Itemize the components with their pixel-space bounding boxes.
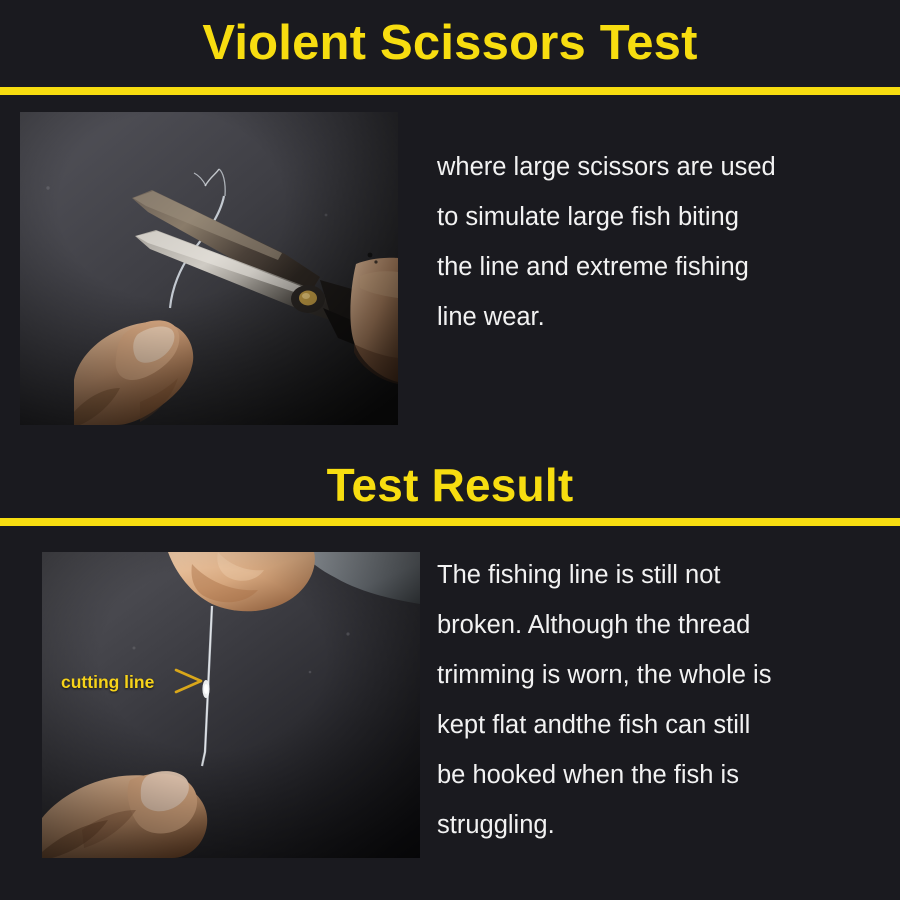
test-result-title: Test Result xyxy=(0,458,900,512)
description-line: line wear. xyxy=(437,292,887,342)
description-line: the line and extreme fishing xyxy=(437,242,887,292)
divider-under-result-title xyxy=(0,518,900,526)
description-line: trimming is worn, the whole is xyxy=(437,650,897,700)
description-line: kept flat andthe fish can still xyxy=(437,700,897,750)
description-line: to simulate large fish biting xyxy=(437,192,887,242)
infographic-page: Violent Scissors Test xyxy=(0,0,900,900)
stretched-fishing-line-photo xyxy=(42,552,420,858)
description-line: struggling. xyxy=(437,800,897,850)
divider-under-main-title xyxy=(0,87,900,95)
page-title: Violent Scissors Test xyxy=(0,14,900,72)
scissors-cutting-fishing-line-photo xyxy=(20,112,398,425)
description-line: where large scissors are used xyxy=(437,142,887,192)
chevron-right-arrow-icon xyxy=(172,665,206,697)
scissors-test-description: where large scissors are used to simulat… xyxy=(437,142,887,342)
cutting-line-annotation-label: cutting line xyxy=(61,672,154,692)
description-line: broken. Although the thread xyxy=(437,600,897,650)
description-line: be hooked when the fish is xyxy=(437,750,897,800)
test-result-description: The fishing line is still not broken. Al… xyxy=(437,550,897,850)
description-line: The fishing line is still not xyxy=(437,550,897,600)
